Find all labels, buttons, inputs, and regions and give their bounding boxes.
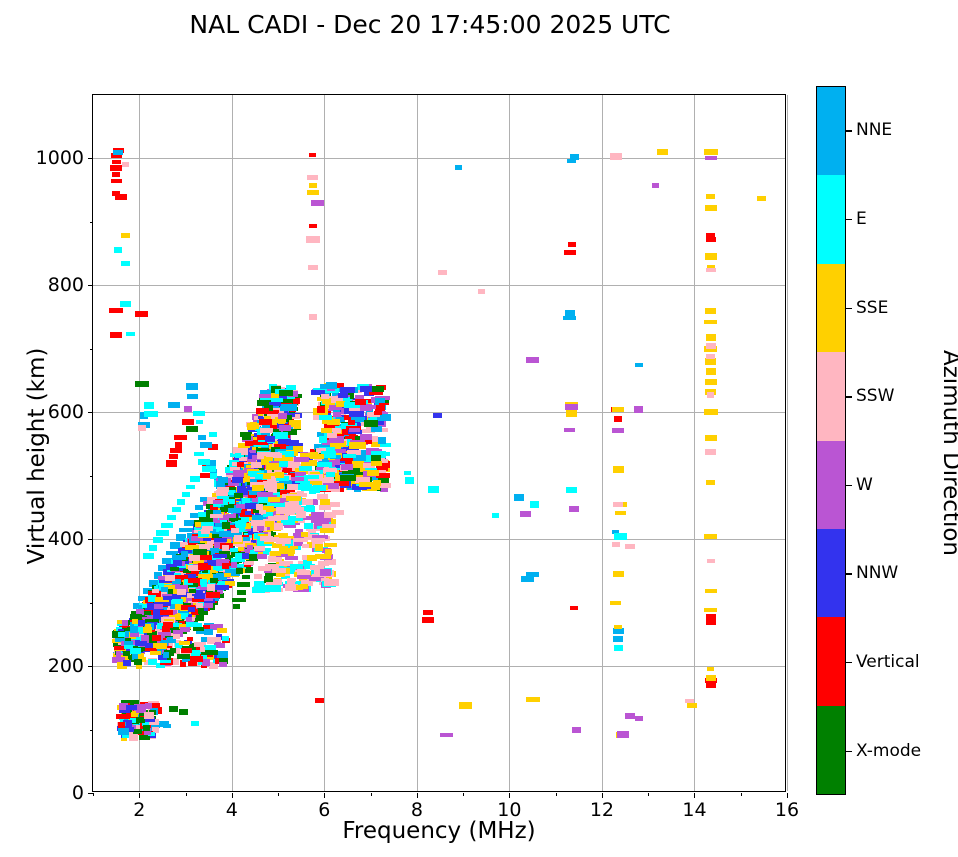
echo-point <box>334 449 346 453</box>
echo-point <box>355 399 366 405</box>
echo-point <box>265 436 275 442</box>
echo-point <box>324 478 334 482</box>
echo-point <box>514 494 524 501</box>
echo-point <box>652 183 659 188</box>
echo-point <box>228 508 241 513</box>
echo-point <box>563 316 576 320</box>
echo-point <box>321 428 332 433</box>
y-axis-tick <box>88 666 93 667</box>
echo-point <box>433 413 442 418</box>
echo-point <box>290 564 303 569</box>
echo-point <box>296 511 306 518</box>
colorbar-tick <box>846 662 852 663</box>
echo-point <box>279 390 293 396</box>
echo-point <box>121 261 130 266</box>
echo-point <box>193 411 205 416</box>
echo-point <box>256 408 269 414</box>
echo-point <box>200 647 205 652</box>
echo-point <box>213 500 223 504</box>
echo-point <box>613 628 624 634</box>
echo-point <box>247 423 259 429</box>
echo-point <box>706 683 716 688</box>
echo-point <box>614 533 627 540</box>
echo-point <box>110 165 122 171</box>
echo-point <box>166 460 177 467</box>
echo-point <box>270 551 281 556</box>
echo-point <box>364 405 376 409</box>
echo-point <box>200 555 212 560</box>
echo-point <box>440 733 453 737</box>
echo-point <box>184 406 192 412</box>
echo-point <box>231 528 239 533</box>
echo-point <box>309 183 317 188</box>
echo-point <box>567 159 576 163</box>
colorbar-tick <box>846 396 852 397</box>
x-axis-tick <box>787 793 788 798</box>
echo-point <box>327 433 337 438</box>
echo-point <box>564 428 575 432</box>
colorbar-tick <box>846 485 852 486</box>
echo-point <box>566 410 577 417</box>
colorbar-label-sse: SSE <box>856 298 888 318</box>
echo-point <box>220 507 227 512</box>
colorbar-band-e[interactable] <box>817 175 845 263</box>
echo-point <box>706 354 715 359</box>
colorbar-band-x-mode[interactable] <box>817 706 845 794</box>
echo-point <box>254 546 265 551</box>
echo-point <box>324 543 337 547</box>
echo-point <box>324 512 336 518</box>
x-axis-tick <box>139 793 140 798</box>
echo-point <box>333 412 341 417</box>
echo-point <box>564 250 576 255</box>
colorbar-band-sse[interactable] <box>817 264 845 352</box>
colorbar-band-w[interactable] <box>817 441 845 529</box>
echo-point <box>256 504 263 510</box>
echo-point <box>143 553 154 559</box>
echo-point <box>160 610 173 615</box>
colorbar-band-nnw[interactable] <box>817 529 845 617</box>
echo-point <box>285 556 298 560</box>
echo-point <box>254 574 262 579</box>
echo-point <box>191 721 199 726</box>
echo-point <box>374 411 382 415</box>
colorbar-label-nnw: NNW <box>856 563 898 583</box>
echo-point <box>163 596 172 600</box>
echo-point <box>375 398 385 403</box>
echo-point <box>261 459 269 465</box>
echo-point <box>706 194 715 199</box>
x-axis-minor-tick <box>463 793 464 796</box>
echo-point <box>242 434 251 440</box>
echo-point <box>115 194 127 200</box>
echo-point <box>613 636 623 642</box>
echo-point <box>274 523 283 530</box>
echo-point <box>704 534 717 539</box>
echo-point <box>247 545 253 550</box>
echo-point <box>112 172 120 177</box>
y-axis-tick-label: 0 <box>0 782 84 804</box>
echo-point <box>364 420 378 427</box>
echo-point <box>704 320 717 324</box>
echo-point <box>170 567 179 571</box>
echo-point <box>163 724 171 728</box>
echo-point <box>234 535 242 542</box>
echo-point <box>196 420 203 424</box>
echo-point <box>613 502 623 507</box>
echo-point <box>613 466 624 473</box>
echo-point <box>232 598 246 602</box>
echo-point <box>226 514 236 518</box>
echo-point <box>156 530 169 536</box>
echo-point <box>307 175 318 180</box>
echo-point <box>161 523 173 528</box>
x-axis-tick <box>232 793 233 798</box>
echo-point <box>287 578 295 584</box>
echo-point <box>242 553 249 559</box>
echo-point <box>705 379 717 385</box>
echo-point <box>186 485 195 489</box>
echo-point <box>359 482 373 487</box>
echo-point <box>147 603 154 609</box>
echo-point <box>194 452 204 456</box>
echo-point <box>268 497 280 502</box>
y-axis-tick <box>88 285 93 286</box>
echo-point <box>260 536 273 541</box>
echo-point <box>259 419 272 425</box>
echo-point <box>181 648 192 653</box>
echo-point <box>172 555 186 560</box>
echo-point <box>138 425 146 431</box>
echo-point <box>186 622 198 627</box>
x-axis-label: Frequency (MHz) <box>92 818 786 844</box>
y-axis-label: Virtual height (km) <box>24 306 50 606</box>
azimuth-colorbar[interactable] <box>816 86 846 795</box>
echo-point <box>252 485 264 491</box>
echo-point <box>265 521 274 527</box>
echo-point <box>319 436 327 443</box>
echo-point <box>198 435 206 440</box>
echo-point <box>177 589 186 595</box>
colorbar-band-vertical[interactable] <box>817 617 845 705</box>
echo-point <box>319 505 331 510</box>
echo-point <box>190 476 200 482</box>
echo-point <box>214 643 225 648</box>
echo-point <box>187 394 198 399</box>
echo-point <box>520 511 531 517</box>
echo-point <box>704 608 717 612</box>
x-axis-tick <box>324 793 325 798</box>
echo-point <box>242 575 250 579</box>
echo-point <box>169 706 178 712</box>
echo-point <box>478 289 485 294</box>
echo-point <box>657 149 668 155</box>
colorbar-tick <box>846 219 852 220</box>
echo-point <box>612 407 624 412</box>
x-axis-minor-tick <box>371 793 372 796</box>
echo-point <box>210 578 218 583</box>
echo-point <box>234 493 243 498</box>
ionogram-plot-area: 24681012141602004006008001000 <box>92 94 786 792</box>
echo-point <box>236 568 243 574</box>
echo-point <box>349 428 360 432</box>
echo-point <box>245 441 253 446</box>
echo-point <box>222 563 229 569</box>
echo-point <box>372 386 384 392</box>
echo-point <box>217 628 227 633</box>
echo-point <box>315 554 331 559</box>
echo-point <box>165 575 175 581</box>
colorbar-band-ssw[interactable] <box>817 352 845 440</box>
echo-point <box>214 538 227 542</box>
echo-point <box>186 383 198 390</box>
echo-point <box>126 705 137 710</box>
echo-point <box>568 242 576 247</box>
echo-point <box>276 538 291 544</box>
echo-point <box>309 314 317 320</box>
echo-point <box>705 253 717 260</box>
echo-point <box>112 160 121 164</box>
echo-point <box>114 247 122 253</box>
y-axis-tick <box>88 793 93 794</box>
echo-point <box>229 499 235 504</box>
echo-point <box>132 619 138 624</box>
echo-point <box>177 499 185 505</box>
echo-point <box>367 470 379 476</box>
echo-point <box>174 435 187 440</box>
echo-point <box>423 610 433 615</box>
echo-point <box>704 149 718 155</box>
echo-point <box>311 512 324 519</box>
echo-point <box>257 526 264 531</box>
x-axis-minor-tick <box>93 793 94 796</box>
colorbar-title: Azimuth Direction <box>938 288 958 618</box>
echo-point <box>348 420 355 425</box>
colorbar-tick <box>846 751 852 752</box>
echo-point <box>190 656 203 662</box>
echo-point <box>237 582 250 587</box>
echo-point <box>341 464 353 470</box>
echo-point <box>152 589 159 593</box>
echo-point <box>195 505 203 510</box>
echo-point <box>320 528 334 533</box>
echo-point <box>196 603 203 608</box>
y-axis-tick <box>88 158 93 159</box>
echo-point <box>219 662 227 667</box>
page-title: NAL CADI - Dec 20 17:45:00 2025 UTC <box>0 10 860 39</box>
echo-point <box>614 625 622 629</box>
echo-point <box>135 311 148 317</box>
echo-point <box>177 654 190 659</box>
echo-point <box>153 537 163 543</box>
echo-point <box>326 472 335 477</box>
echo-point <box>189 589 196 593</box>
echo-point <box>273 453 282 458</box>
colorbar-label-e: E <box>856 209 867 229</box>
echo-point <box>455 165 462 170</box>
echo-point <box>301 532 308 537</box>
echo-point <box>198 459 210 465</box>
echo-point <box>521 576 534 582</box>
echo-point <box>360 434 372 440</box>
echo-point <box>145 703 152 709</box>
echo-point <box>705 156 717 160</box>
x-axis-tick <box>602 793 603 798</box>
echo-point <box>116 714 127 719</box>
echo-point <box>206 592 220 598</box>
echo-point <box>232 477 243 483</box>
echo-point <box>706 619 716 625</box>
echo-point <box>614 416 622 422</box>
echo-point <box>706 233 715 237</box>
echo-point <box>129 734 138 741</box>
echo-point <box>273 579 282 585</box>
echo-point <box>338 393 348 398</box>
x-axis-minor-tick <box>556 793 557 796</box>
echo-point <box>340 387 355 393</box>
echo-point <box>128 727 134 732</box>
echo-point <box>143 627 152 633</box>
echo-point <box>687 703 697 708</box>
echo-point <box>278 413 287 419</box>
echo-point <box>152 635 161 641</box>
echo-point <box>222 545 229 551</box>
echo-point <box>572 727 581 733</box>
echo-point <box>145 643 153 648</box>
echo-point <box>705 449 716 455</box>
echo-point <box>207 584 215 591</box>
echo-point <box>634 406 643 413</box>
echo-point <box>233 604 240 609</box>
echo-point <box>565 404 578 410</box>
y-axis-minor-tick <box>90 349 93 350</box>
echo-point <box>202 659 210 666</box>
echo-point <box>569 506 579 512</box>
echo-point <box>311 538 325 542</box>
echo-point <box>251 520 266 526</box>
echo-point <box>202 526 213 531</box>
echo-point <box>705 589 717 593</box>
echo-point <box>315 544 323 551</box>
echo-point <box>530 501 539 508</box>
colorbar-tick <box>846 130 852 131</box>
echo-point <box>706 343 716 349</box>
y-axis-tick-label: 1000 <box>0 147 84 169</box>
echo-point <box>265 484 277 491</box>
echo-point <box>204 629 213 635</box>
echo-point <box>343 454 356 458</box>
echo-point <box>526 697 540 702</box>
echo-point <box>293 538 308 542</box>
colorbar-label-x-mode: X-mode <box>856 741 921 761</box>
echo-point <box>360 386 372 392</box>
echo-point <box>326 382 337 389</box>
colorbar-label-w: W <box>856 475 873 495</box>
echo-point <box>224 573 231 577</box>
echo-point <box>186 426 198 432</box>
echo-point <box>169 454 178 459</box>
echo-point <box>291 477 304 481</box>
echo-point <box>707 392 714 398</box>
echo-point <box>154 604 163 609</box>
echo-point <box>260 428 273 433</box>
y-axis-tick-label: 200 <box>0 655 84 677</box>
echo-point <box>373 480 381 486</box>
echo-point <box>317 462 332 467</box>
echo-point <box>705 358 716 365</box>
echo-point <box>213 554 227 558</box>
echo-point <box>130 648 141 654</box>
echo-point <box>317 406 325 413</box>
echo-point <box>321 394 329 399</box>
echo-point <box>566 487 577 493</box>
echo-point <box>302 544 309 548</box>
echo-point <box>705 435 717 441</box>
echo-point <box>209 432 217 437</box>
echo-point <box>179 709 188 715</box>
echo-point <box>124 641 133 645</box>
echo-point <box>258 583 265 589</box>
echo-point <box>138 620 145 626</box>
echo-point <box>610 153 622 160</box>
echo-point <box>378 437 386 444</box>
echo-point <box>285 404 297 411</box>
echo-point <box>309 224 317 228</box>
echo-point <box>171 599 183 604</box>
y-axis-minor-tick <box>90 730 93 731</box>
echo-point <box>459 702 472 709</box>
echo-point <box>322 420 338 424</box>
echo-point <box>612 428 624 433</box>
echo-point <box>116 651 121 658</box>
echo-point <box>126 332 135 336</box>
echo-point <box>198 563 208 568</box>
echo-point <box>706 237 716 242</box>
x-axis-minor-tick <box>648 793 649 796</box>
echo-point <box>259 510 266 514</box>
echo-point <box>175 614 181 619</box>
echo-point <box>612 542 620 547</box>
y-axis-tick <box>88 412 93 413</box>
echo-point <box>325 559 336 565</box>
echo-point <box>705 308 716 314</box>
echo-point <box>757 196 766 201</box>
echo-point <box>311 200 324 206</box>
echo-point <box>162 626 170 632</box>
echo-point <box>173 634 180 639</box>
echo-point <box>405 477 414 484</box>
echo-point <box>276 507 286 514</box>
echo-point <box>279 548 295 554</box>
echo-point <box>235 453 241 458</box>
echo-point <box>163 652 169 658</box>
echo-point <box>404 471 411 475</box>
echo-point <box>570 606 578 610</box>
echo-point <box>706 334 716 341</box>
echo-point <box>615 511 626 515</box>
x-axis-minor-tick <box>186 793 187 796</box>
echo-point <box>324 579 339 586</box>
echo-point <box>182 492 190 497</box>
echo-point <box>156 643 167 649</box>
echo-point <box>134 659 142 665</box>
echo-point <box>120 301 131 307</box>
echo-point <box>706 368 716 375</box>
colorbar-band-nne[interactable] <box>817 87 845 175</box>
echo-point <box>188 607 195 612</box>
echo-point <box>237 590 246 595</box>
echo-point <box>492 513 499 518</box>
